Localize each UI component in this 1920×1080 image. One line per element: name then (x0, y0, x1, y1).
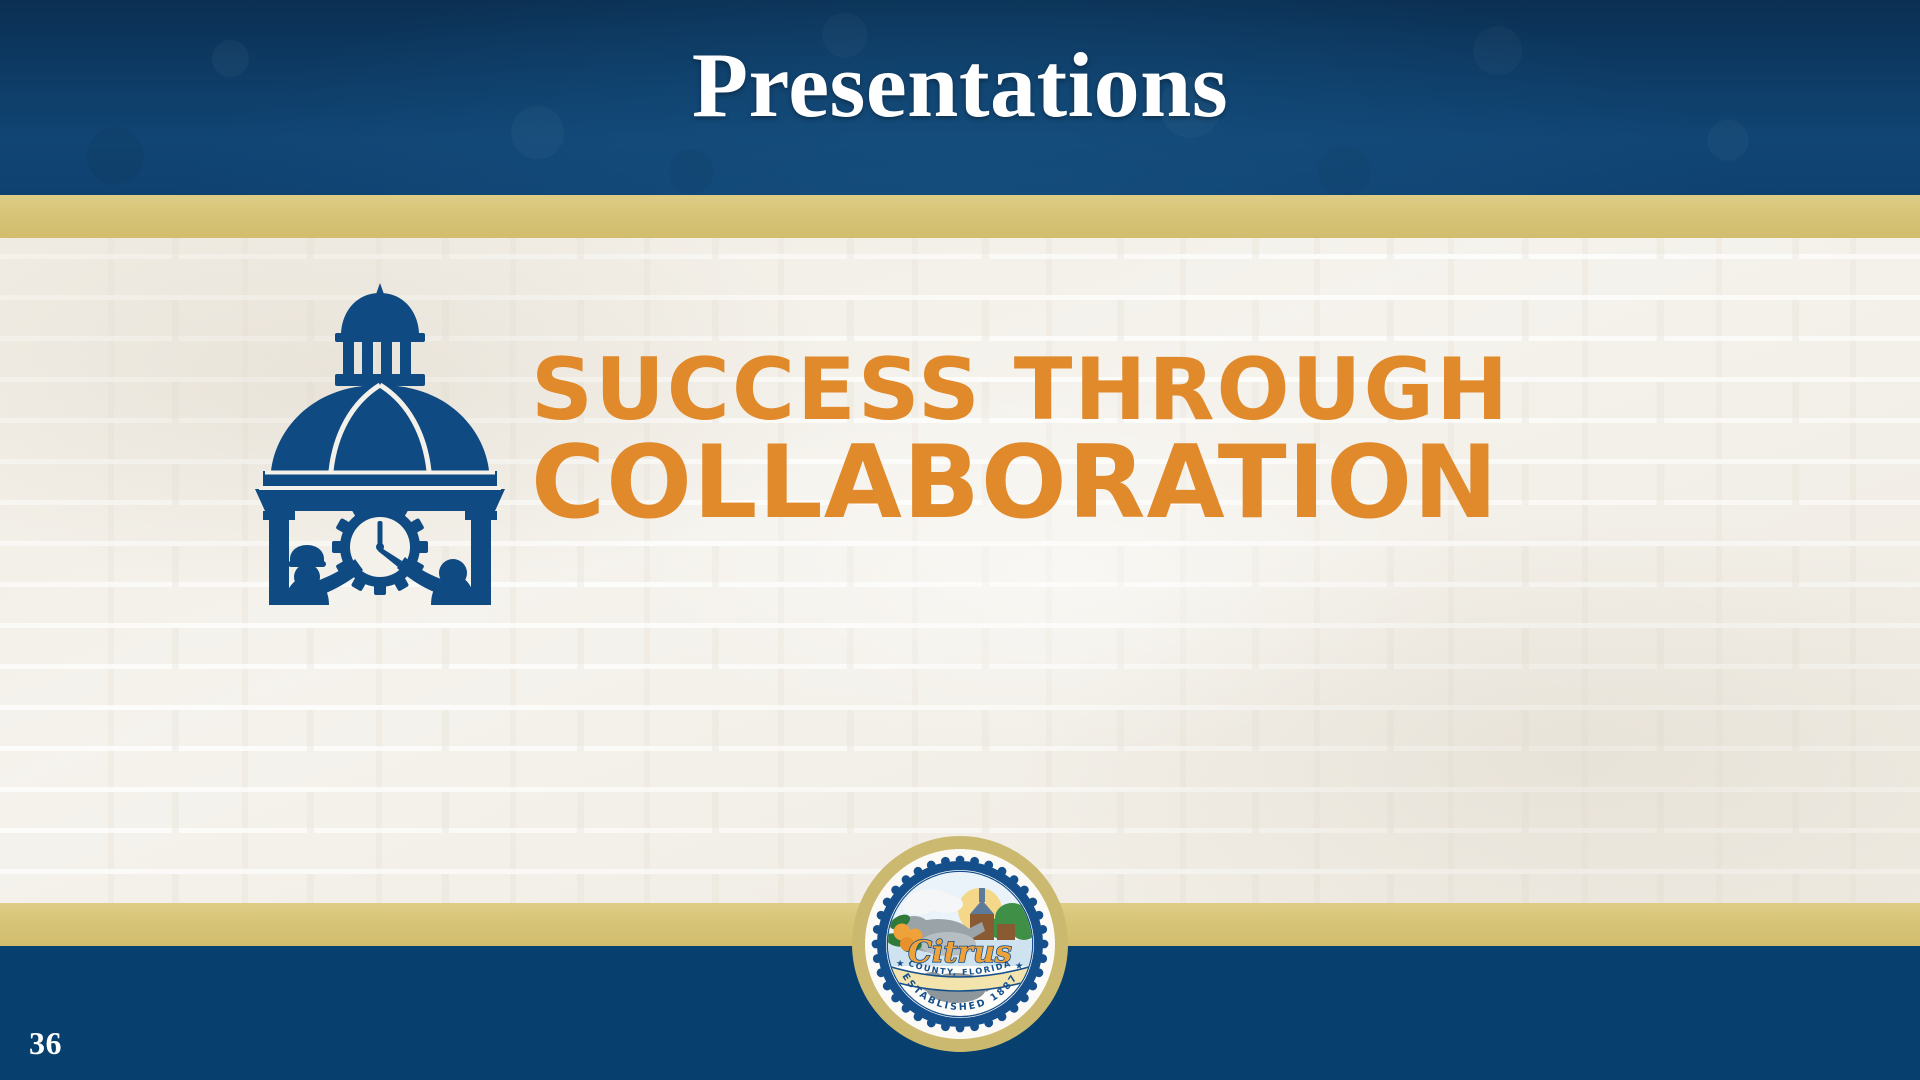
logo-wordmark: SUCCESS THROUGH COLLABORATION (531, 351, 1510, 529)
success-through-collaboration-logo: SUCCESS THROUGH COLLABORATION (255, 270, 1435, 610)
citrus-county-seal-graphic: Citrus COUNTY, FLORIDA ★ ESTABLISHED 188… (852, 836, 1068, 1052)
gold-divider-top (0, 195, 1920, 238)
presentation-slide: Presentations (0, 0, 1920, 1080)
logo-line-success-through: SUCCESS THROUGH (531, 351, 1510, 430)
slide-header-band: Presentations (0, 0, 1920, 195)
page-title: Presentations (0, 0, 1920, 195)
county-seal: Citrus COUNTY, FLORIDA ★ ESTABLISHED 188… (852, 836, 1068, 1052)
gazebo-clock-icon (255, 275, 505, 605)
logo-line-collaboration: COLLABORATION (531, 436, 1510, 529)
page-number: 36 (29, 1025, 62, 1062)
